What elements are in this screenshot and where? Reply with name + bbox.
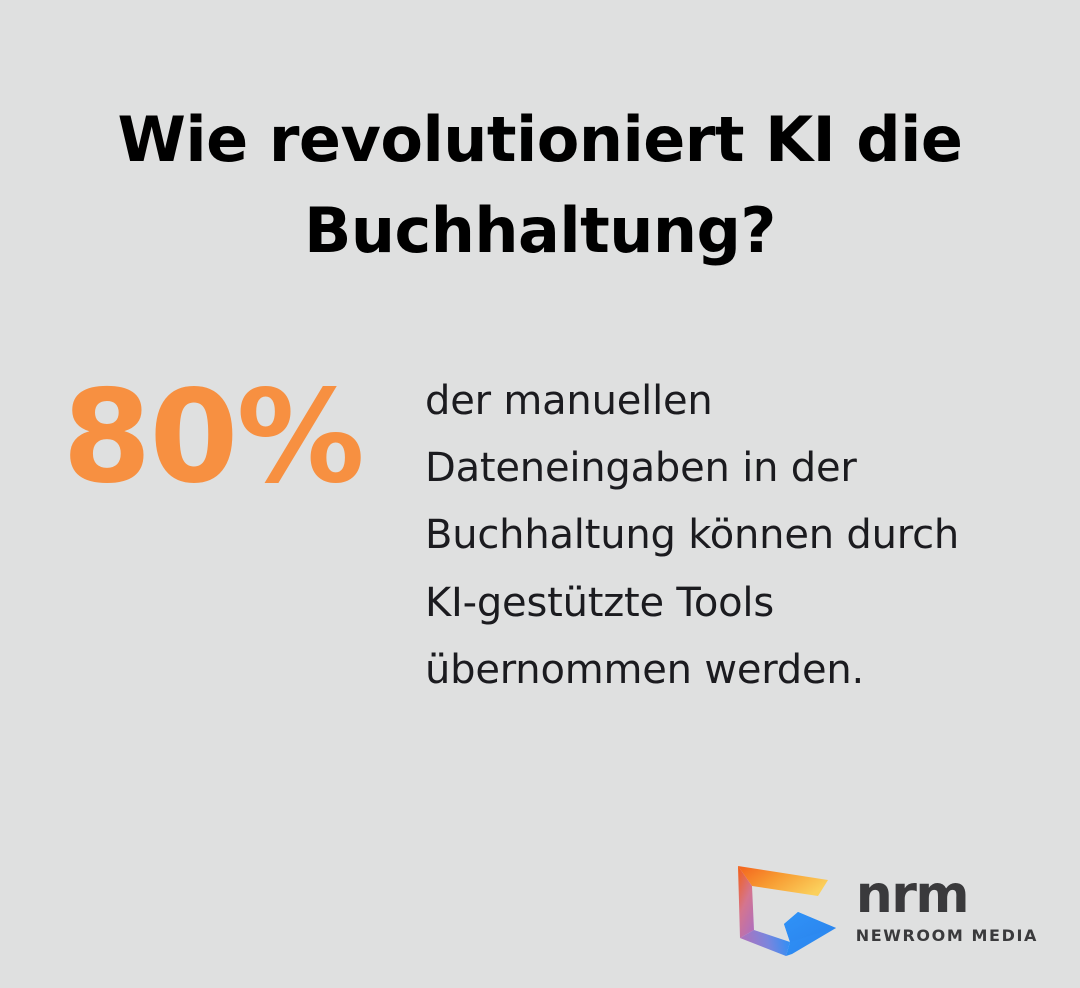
statistic-block: 80% der manuellen Dateneingaben in der B…: [0, 368, 1080, 704]
stat-percentage-value: 80%: [0, 368, 425, 502]
logo-tagline: NEWROOM MEDIA: [856, 924, 1038, 948]
infographic-canvas: Wie revolutioniert KI die Buchhaltung? 8…: [0, 0, 1080, 988]
stat-description: der manuellen Dateneingaben in der Buchh…: [425, 368, 1080, 704]
logo-wordmark: nrm: [856, 872, 1038, 920]
brand-logo: nrm NEWROOM MEDIA: [732, 862, 1038, 958]
nrm-logo-mark-icon: [732, 862, 840, 958]
nrm-angular-g-icon: [732, 862, 840, 958]
logo-text-group: nrm NEWROOM MEDIA: [856, 872, 1038, 948]
page-title: Wie revolutioniert KI die Buchhaltung?: [60, 94, 1020, 276]
